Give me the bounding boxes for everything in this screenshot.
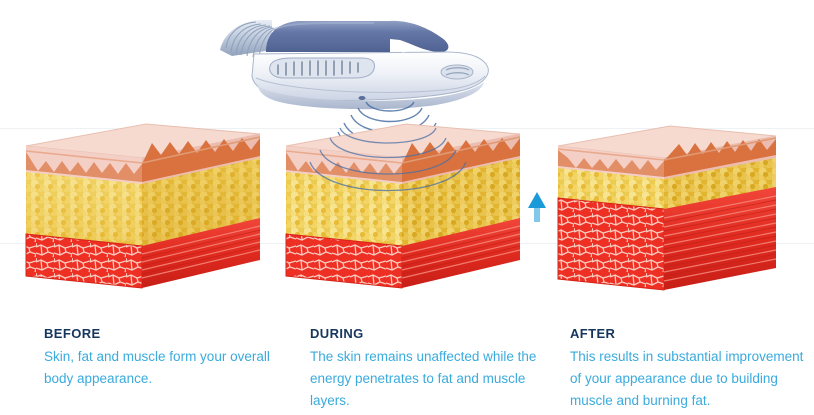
- caption-body-before: Skin, fat and muscle form your overall b…: [44, 346, 284, 390]
- tip-detail-icon: [441, 65, 473, 79]
- caption-during: DURING The skin remains unaffected while…: [310, 327, 550, 412]
- muscle-growth-arrow-icon: [525, 190, 549, 226]
- caption-title-during: DURING: [310, 327, 550, 341]
- vent-grille-icon: [270, 58, 375, 78]
- tissue-block-during: [278, 108, 528, 298]
- infographic-canvas: BEFORE Skin, fat and muscle form your ov…: [0, 0, 814, 415]
- muscle-front-face-thick: [558, 198, 664, 290]
- caption-title-before: BEFORE: [44, 327, 284, 341]
- tissue-block-before: [18, 108, 268, 298]
- caption-body-during: The skin remains unaffected while the en…: [310, 346, 550, 412]
- caption-title-after: AFTER: [570, 327, 814, 341]
- caption-after: AFTER This results in substantial improv…: [570, 327, 814, 412]
- caption-before: BEFORE Skin, fat and muscle form your ov…: [44, 327, 284, 390]
- caption-body-after: This results in substantial improvement …: [570, 346, 814, 412]
- tissue-block-after: [538, 108, 788, 298]
